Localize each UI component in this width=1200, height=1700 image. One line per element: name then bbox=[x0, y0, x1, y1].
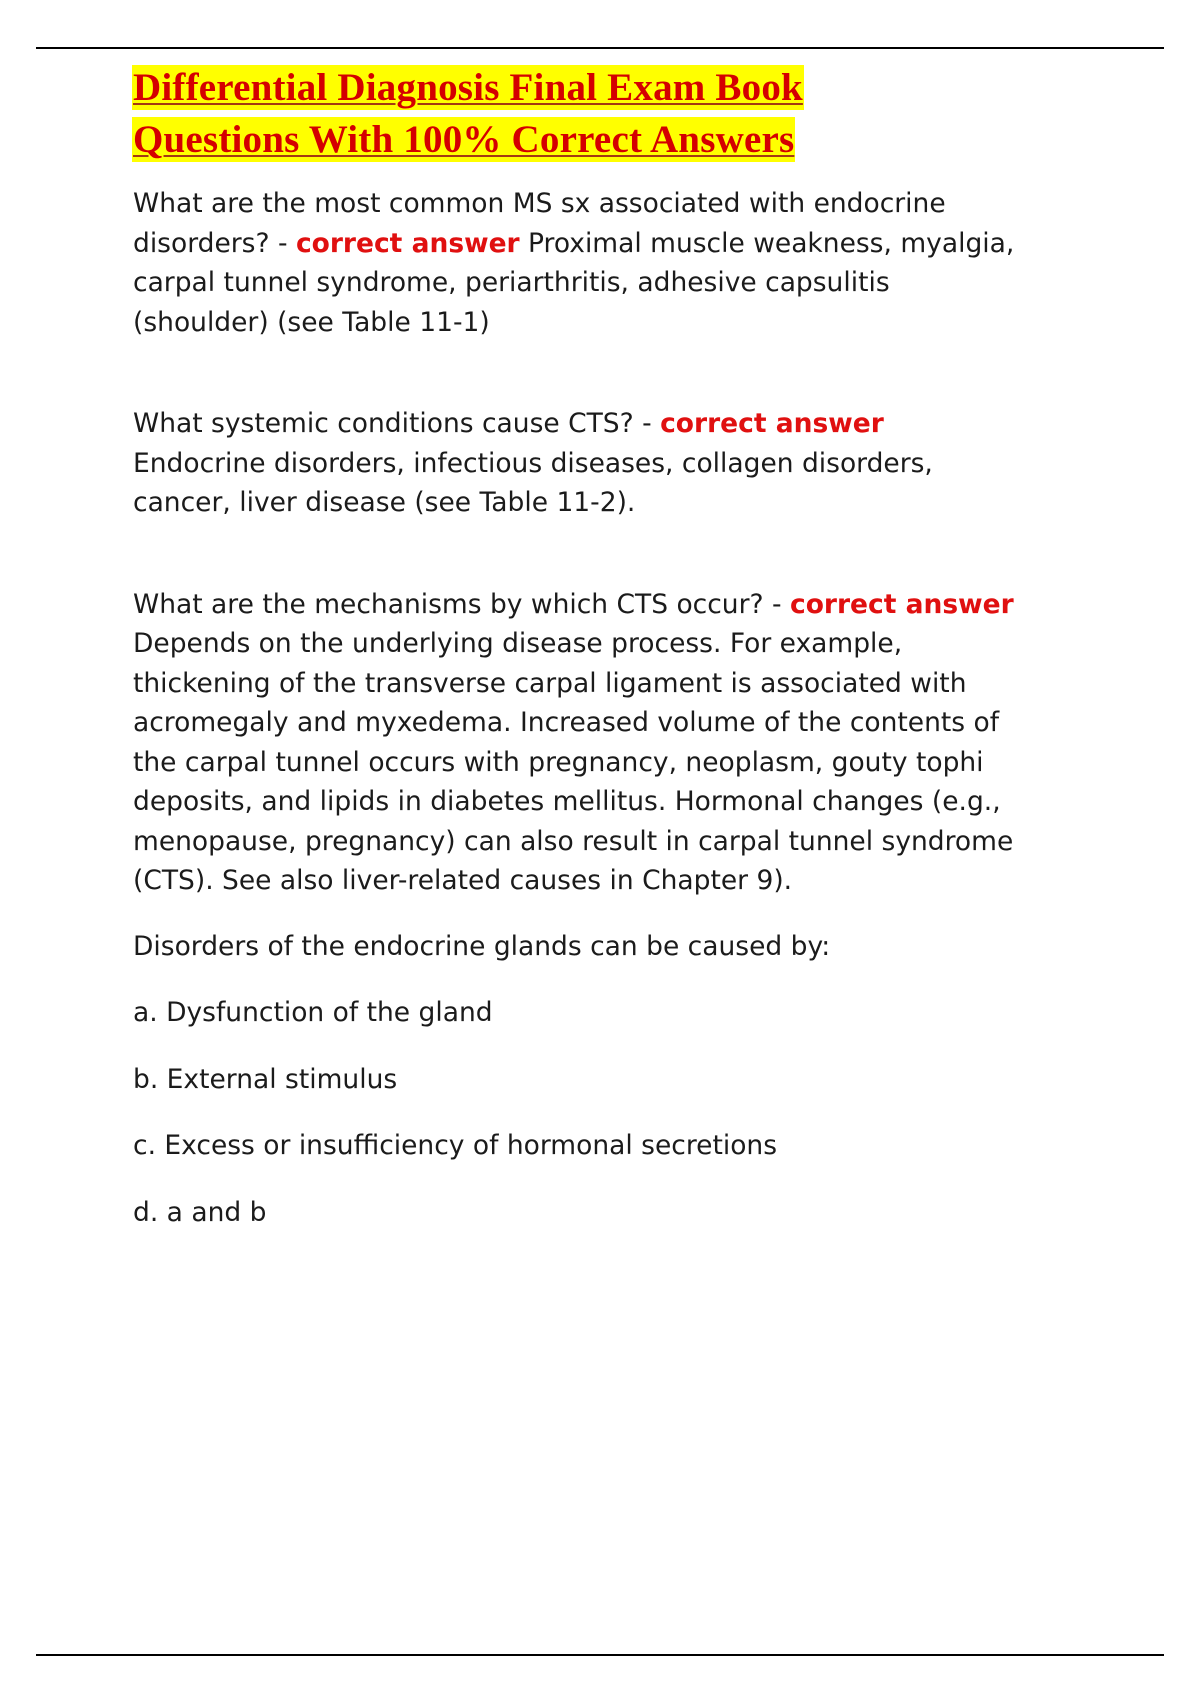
multiple-choice-question: Disorders of the endocrine glands can be… bbox=[133, 927, 1023, 1233]
qa-question: What are the mechanisms by which CTS occ… bbox=[133, 589, 790, 620]
page-title-line-2: Questions With 100% Correct Answers bbox=[133, 118, 794, 161]
footer-rule bbox=[36, 1654, 1164, 1656]
correct-answer-tag: correct answer bbox=[296, 228, 520, 259]
page-title: Differential Diagnosis Final Exam Book Q… bbox=[133, 62, 1023, 166]
header-rule bbox=[36, 47, 1164, 49]
mcq-option-b: b. External stimulus bbox=[133, 1060, 1023, 1100]
qa-item: What systemic conditions cause CTS? - co… bbox=[133, 404, 1023, 523]
mcq-option-a: a. Dysfunction of the gland bbox=[133, 993, 1023, 1033]
page-title-line-1: Differential Diagnosis Final Exam Book bbox=[133, 66, 803, 109]
qa-question: What systemic conditions cause CTS? - bbox=[133, 408, 660, 439]
qa-answer: Endocrine disorders, infectious diseases… bbox=[133, 448, 933, 519]
correct-answer-tag: correct answer bbox=[660, 408, 884, 439]
mcq-option-c: c. Excess or insufficiency of hormonal s… bbox=[133, 1126, 1023, 1166]
qa-answer: Depends on the underlying disease proces… bbox=[133, 628, 1013, 896]
section-spacer bbox=[133, 901, 1023, 927]
mcq-option-d: d. a and b bbox=[133, 1193, 1023, 1233]
mcq-stem: Disorders of the endocrine glands can be… bbox=[133, 927, 1023, 967]
correct-answer-tag: correct answer bbox=[790, 589, 1014, 620]
qa-item: What are the mechanisms by which CTS occ… bbox=[133, 585, 1023, 901]
qa-item: What are the most common MS sx associate… bbox=[133, 184, 1023, 342]
document-content: Differential Diagnosis Final Exam Book Q… bbox=[133, 62, 1023, 1232]
document-page: Differential Diagnosis Final Exam Book Q… bbox=[0, 0, 1200, 1700]
